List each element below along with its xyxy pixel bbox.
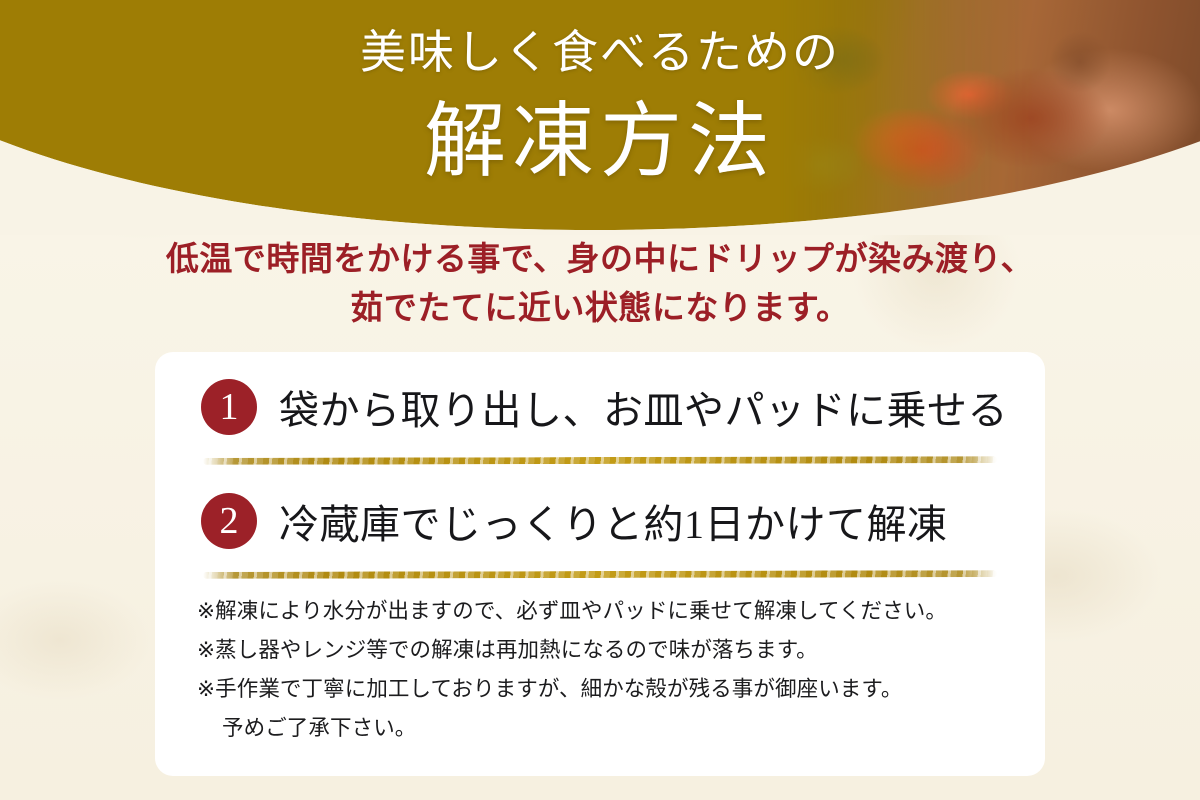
banner-text-group: 美味しく食べるための 解凍方法 [0, 0, 1200, 235]
lead-copy: 低温で時間をかける事で、身の中にドリップが染み渡り、 茹でたてに近い状態になりま… [0, 236, 1200, 333]
lead-copy-line-2: 茹でたてに近い状態になります。 [0, 285, 1200, 334]
banner-lead-text: 美味しく食べるための [0, 16, 1200, 82]
step-label-2: 冷蔵庫でじっくりと約1日かけて解凍 [279, 492, 948, 550]
divider-2 [203, 570, 997, 579]
note-1: ※解凍により水分が出ますので、必ず皿やパッドに乗せて解凍してください。 [197, 592, 1017, 631]
step-number-badge-1: 1 [201, 379, 257, 435]
page-title: 解凍方法 [0, 74, 1200, 193]
step-row-1: 1 袋から取り出し、お皿やパッドに乗せる [201, 378, 1008, 436]
note-2: ※蒸し器やレンジ等での解凍は再加熱になるので味が落ちます。 [197, 631, 1017, 670]
divider-1 [203, 456, 997, 465]
lead-copy-line-1: 低温で時間をかける事で、身の中にドリップが染み渡り、 [0, 236, 1200, 285]
step-number-badge-2: 2 [201, 493, 257, 549]
notes-list: ※解凍により水分が出ますので、必ず皿やパッドに乗せて解凍してください。 ※蒸し器… [197, 592, 1017, 749]
steps-card: 1 袋から取り出し、お皿やパッドに乗せる 2 冷蔵庫でじっくりと約1日かけて解凍… [155, 352, 1045, 776]
note-3: ※手作業で丁寧に加工しておりますが、細かな殻が残る事が御座います。 [197, 670, 1017, 709]
step-row-2: 2 冷蔵庫でじっくりと約1日かけて解凍 [201, 492, 948, 550]
note-3-continuation: 予めご了承下さい。 [197, 709, 1017, 748]
step-label-1: 袋から取り出し、お皿やパッドに乗せる [279, 378, 1008, 436]
thawing-instructions-page: 美味しく食べるための 解凍方法 低温で時間をかける事で、身の中にドリップが染み渡… [0, 0, 1200, 800]
